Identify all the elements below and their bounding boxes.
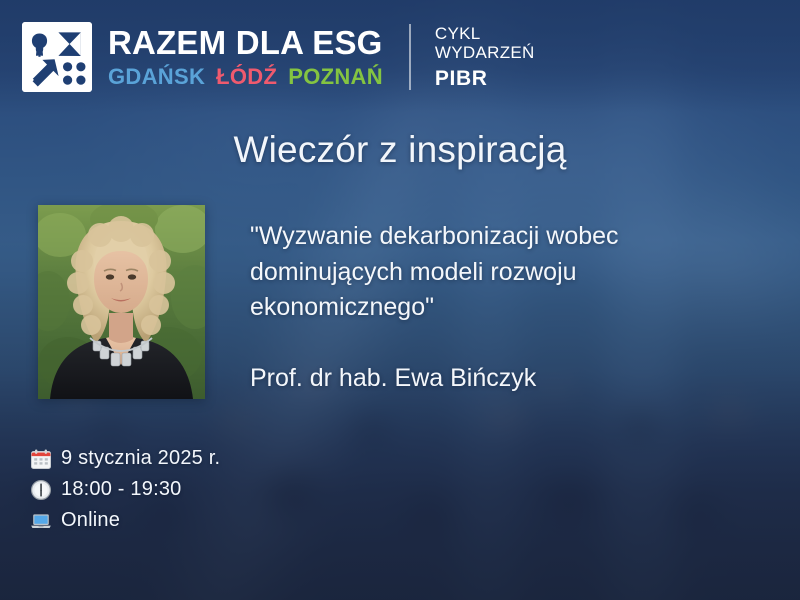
city-gdansk: GDAŃSK	[108, 66, 205, 88]
detail-row-time: 18:00 - 19:30	[30, 478, 220, 501]
brand-title: RAZEM DLA ESG	[108, 26, 383, 59]
header-cycle-info: CYKL WYDARZEŃ PIBR	[431, 24, 535, 91]
clock-icon	[30, 479, 52, 501]
event-poster: RAZEM DLA ESG GDAŃSK ŁÓDŹ POZNAŃ CYKL WY…	[0, 0, 800, 600]
speaker-portrait-photo	[38, 205, 205, 399]
brand-cities: GDAŃSK ŁÓDŹ POZNAŃ	[108, 66, 383, 88]
detail-row-date: 9 stycznia 2025 r.	[30, 447, 220, 470]
brand-wordmark: RAZEM DLA ESG GDAŃSK ŁÓDŹ POZNAŃ	[108, 26, 383, 88]
event-date-text: 9 stycznia 2025 r.	[61, 447, 220, 470]
organizer-abbreviation: PIBR	[435, 67, 535, 91]
talk-information-block: "Wyzwanie dekarbonizacji wobec dominując…	[250, 219, 698, 393]
city-poznan: POZNAŃ	[288, 66, 383, 88]
header-vertical-divider	[409, 24, 411, 90]
razem-dla-esg-mark-icon	[22, 22, 92, 92]
event-mode-text: Online	[61, 509, 120, 532]
header-brand-lockup: RAZEM DLA ESG GDAŃSK ŁÓDŹ POZNAŃ CYKL WY…	[22, 22, 535, 92]
laptop-icon	[30, 510, 52, 532]
cycle-label-line2: WYDARZEŃ	[435, 43, 535, 62]
event-time-text: 18:00 - 19:30	[61, 478, 181, 501]
city-lodz: ŁÓDŹ	[216, 66, 277, 88]
event-details-list: 9 stycznia 2025 r. 18:00 - 19:30 Online	[30, 447, 220, 532]
event-title: Wieczór z inspiracją	[0, 129, 800, 171]
cycle-label-line1: CYKL	[435, 24, 535, 43]
detail-row-mode: Online	[30, 509, 220, 532]
speaker-name: Prof. dr hab. Ewa Bińczyk	[250, 364, 698, 393]
calendar-icon	[30, 448, 52, 470]
speaker-portrait-illustration	[38, 205, 205, 399]
talk-title-quote: "Wyzwanie dekarbonizacji wobec dominując…	[250, 219, 698, 326]
